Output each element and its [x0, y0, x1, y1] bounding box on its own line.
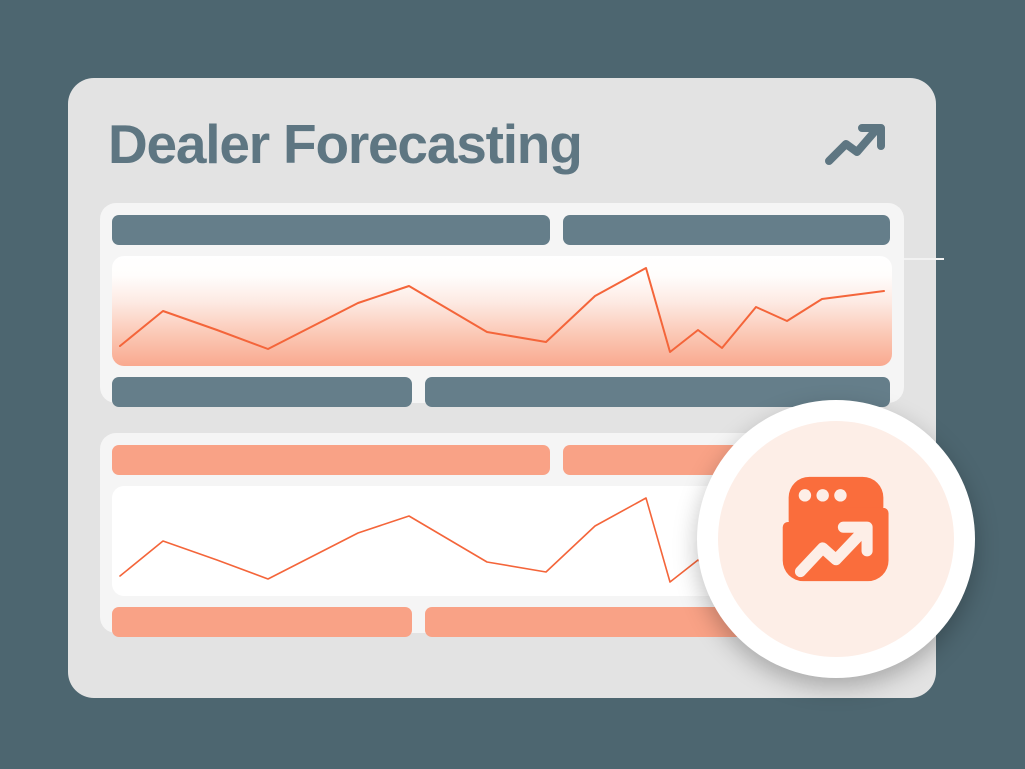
forecast-bottom-bar-row [112, 377, 892, 407]
forecast-top-bar-row [112, 215, 892, 245]
actuals-top-bar-wide [112, 445, 550, 475]
browser-analytics-icon [762, 465, 910, 613]
forecast-line-chart [112, 256, 892, 366]
browser-dot-1 [799, 489, 811, 501]
analytics-badge[interactable] [697, 400, 975, 678]
browser-dot-2 [816, 489, 828, 501]
forecast-chart-plot [112, 256, 892, 366]
trending-up-arrow-icon [824, 121, 890, 167]
analytics-badge-inner [718, 421, 954, 657]
forecast-card [100, 203, 904, 403]
forecast-bottom-bar-short [112, 377, 412, 407]
panel-header: Dealer Forecasting [108, 94, 896, 194]
browser-dot-3 [834, 489, 846, 501]
page-title: Dealer Forecasting [108, 117, 582, 172]
forecast-top-bar-narrow [563, 215, 890, 245]
forecast-top-bar-wide [112, 215, 550, 245]
actuals-bottom-bar-short [112, 607, 412, 637]
